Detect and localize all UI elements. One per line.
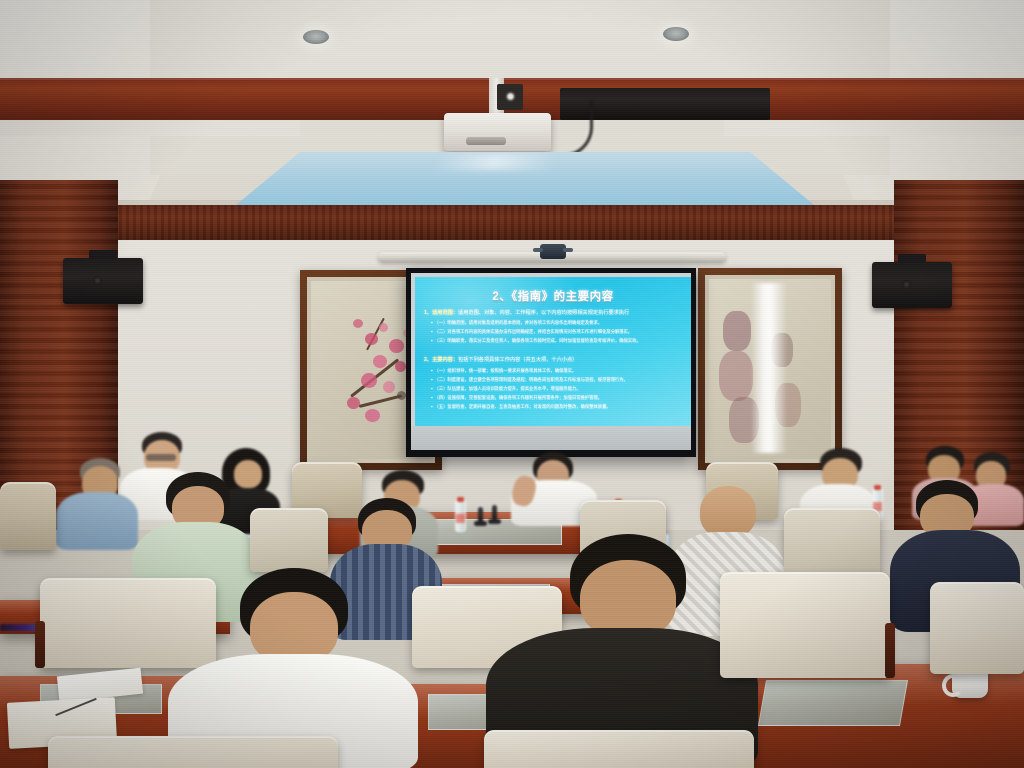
speaker-cone (902, 280, 911, 289)
speaker-bracket (898, 254, 926, 263)
bottle-cap (874, 485, 881, 490)
camera-wing (533, 248, 543, 252)
wall-speaker-right (872, 262, 952, 308)
chair-arm (885, 623, 895, 678)
desktop-microphone (492, 505, 497, 521)
plum-blossom (365, 333, 378, 345)
conference-chair[interactable] (784, 508, 880, 582)
projector-mount-plate (497, 84, 523, 110)
painting-motif (723, 311, 751, 351)
frosted-glass-inset (758, 680, 908, 726)
plum-blossom (361, 373, 377, 388)
ceiling-mounted-projector (444, 113, 551, 151)
painting-glare (751, 283, 787, 453)
slide-section-heading: 1、适用范围：适用范围、对象、内容、工作程序，以下内容均按照相关规定执行要求执行 (424, 309, 629, 316)
ceiling-downlight-right (663, 27, 689, 41)
slide-bullet: （二）制度建设，建立健全各项管理制度及规程；明确各岗位职责及工作标准与流程，规范… (431, 377, 628, 383)
section-heading-text: 2、主要内容： (424, 357, 458, 363)
framed-painting-with-glare (698, 268, 842, 470)
attendee-body (56, 492, 138, 550)
slide-bullet: （三）明确职责，落实分工及责任到人，确保各项工作按时完成，同时加强监督检查及考核… (431, 338, 641, 344)
speaker-cone (93, 276, 102, 285)
ceiling-lip-right (724, 120, 1024, 136)
ceiling-downlight-left (303, 30, 329, 44)
conference-chair[interactable] (48, 736, 338, 768)
wooden-ceiling-beam-mid (0, 205, 1024, 245)
bottle-label (456, 514, 465, 523)
conference-room-photo: 2、《指南》的主要内容 1、适用范围：适用范围、对象、内容、工作程序，以下内容均… (0, 0, 1024, 768)
conference-chair[interactable] (484, 730, 754, 768)
plum-blossom (397, 391, 406, 400)
projection-screen: 2、《指南》的主要内容 1、适用范围：适用范围、对象、内容、工作程序，以下内容均… (406, 268, 696, 457)
speaker-bracket (89, 250, 117, 259)
conference-chair[interactable] (250, 508, 328, 572)
wood-grain-texture (0, 205, 1024, 245)
attendee-head (580, 560, 676, 638)
camera-wing (563, 248, 573, 252)
plum-blossom (383, 381, 395, 393)
plum-blossom (389, 339, 404, 353)
plum-blossom (395, 361, 406, 372)
plum-blossom (353, 319, 363, 328)
mic-base (488, 519, 501, 524)
screen-top-camera (540, 244, 566, 259)
bottle-cap (457, 497, 464, 502)
ceiling-light-streak (432, 154, 558, 170)
slide-bullet: （五）监督检查，定期开展自查、互查及抽查工作；对发现的问题及时整改，确保整体质量… (431, 404, 611, 410)
attendee-head (700, 486, 756, 538)
chair-arm (35, 621, 45, 668)
attendee-blue-shirt (56, 458, 138, 548)
section-heading-text: 1、适用范围： (424, 310, 458, 316)
conference-chair[interactable] (930, 582, 1024, 674)
slide-title: 2、《指南》的主要内容 (415, 288, 691, 304)
plum-blossom (365, 409, 380, 422)
eyeglasses-icon (146, 454, 176, 461)
wall-speaker-left (63, 258, 143, 304)
section-heading-tail: 适用范围、对象、内容、工作程序，以下内容均按照相关规定执行要求执行 (458, 310, 629, 316)
mic-base (474, 521, 487, 526)
slide-bullet: （一）明确范围，适用对象及适用的基本原则，并对各项工作内容作出明确规定及要求。 (431, 320, 602, 326)
mug-handle (942, 674, 964, 697)
conference-chair[interactable] (0, 482, 56, 550)
ceiling-lip-left (0, 120, 300, 136)
desktop-microphone (478, 507, 483, 523)
ceiling-socket-icon (505, 91, 516, 102)
water-bottle (455, 500, 466, 532)
slide-bullet: （一）组织领导，统一部署；按照统一要求开展各项具体工作，确保落实。 (431, 368, 576, 374)
slide-section-heading: 2、主要内容：包括下列各项具体工作内容（共五大项、十六小点） (424, 356, 577, 363)
presentation-slide: 2、《指南》的主要内容 1、适用范围：适用范围、对象、内容、工作程序，以下内容均… (415, 277, 691, 432)
projector-lens (466, 137, 506, 145)
slide-bullet: （三）队伍建设，加强人员培训及能力提升，提高业务水平，增强服务能力。 (431, 386, 581, 392)
plum-blossom (379, 323, 388, 332)
slide-bullet: （二）对各项工作内容的具体实施办法作出明确规定，并结合实际情况对各项工作进行细化… (431, 329, 632, 335)
slide-bullet: （四）设施保障，完善配套设施，确保各项工作顺利开展所需条件；加强日常维护管理。 (431, 395, 602, 401)
painting-motif (719, 351, 753, 401)
plum-blossom (347, 397, 360, 409)
conference-chair[interactable] (720, 572, 890, 678)
section-heading-tail: 包括下列各项具体工作内容（共五大项、十六小点） (458, 357, 577, 363)
screen-lower-blank (411, 426, 691, 452)
plum-blossom (373, 355, 387, 368)
